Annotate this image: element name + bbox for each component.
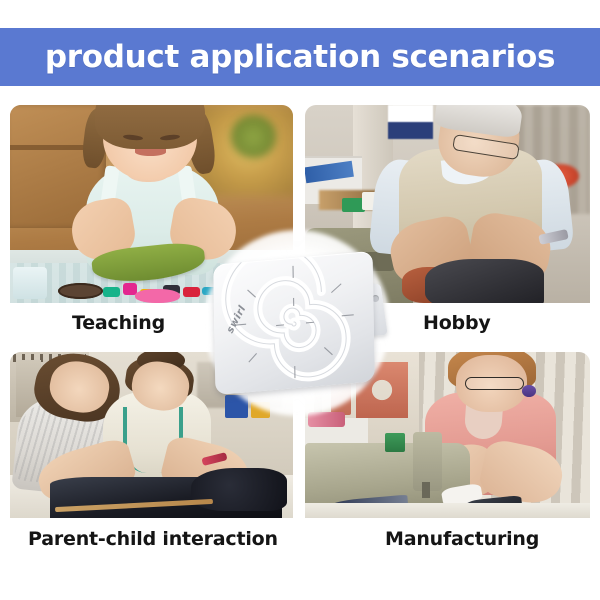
page-title: product application scenarios bbox=[45, 42, 555, 73]
page-root: product application scenarios bbox=[0, 0, 600, 600]
header-banner: product application scenarios bbox=[0, 28, 600, 86]
scenario-caption-parent-child-interaction: Parent-child interaction bbox=[10, 518, 293, 560]
product-image-spiral-template: swirl bbox=[196, 228, 404, 424]
scenario-caption-manufacturing: Manufacturing bbox=[305, 518, 590, 560]
